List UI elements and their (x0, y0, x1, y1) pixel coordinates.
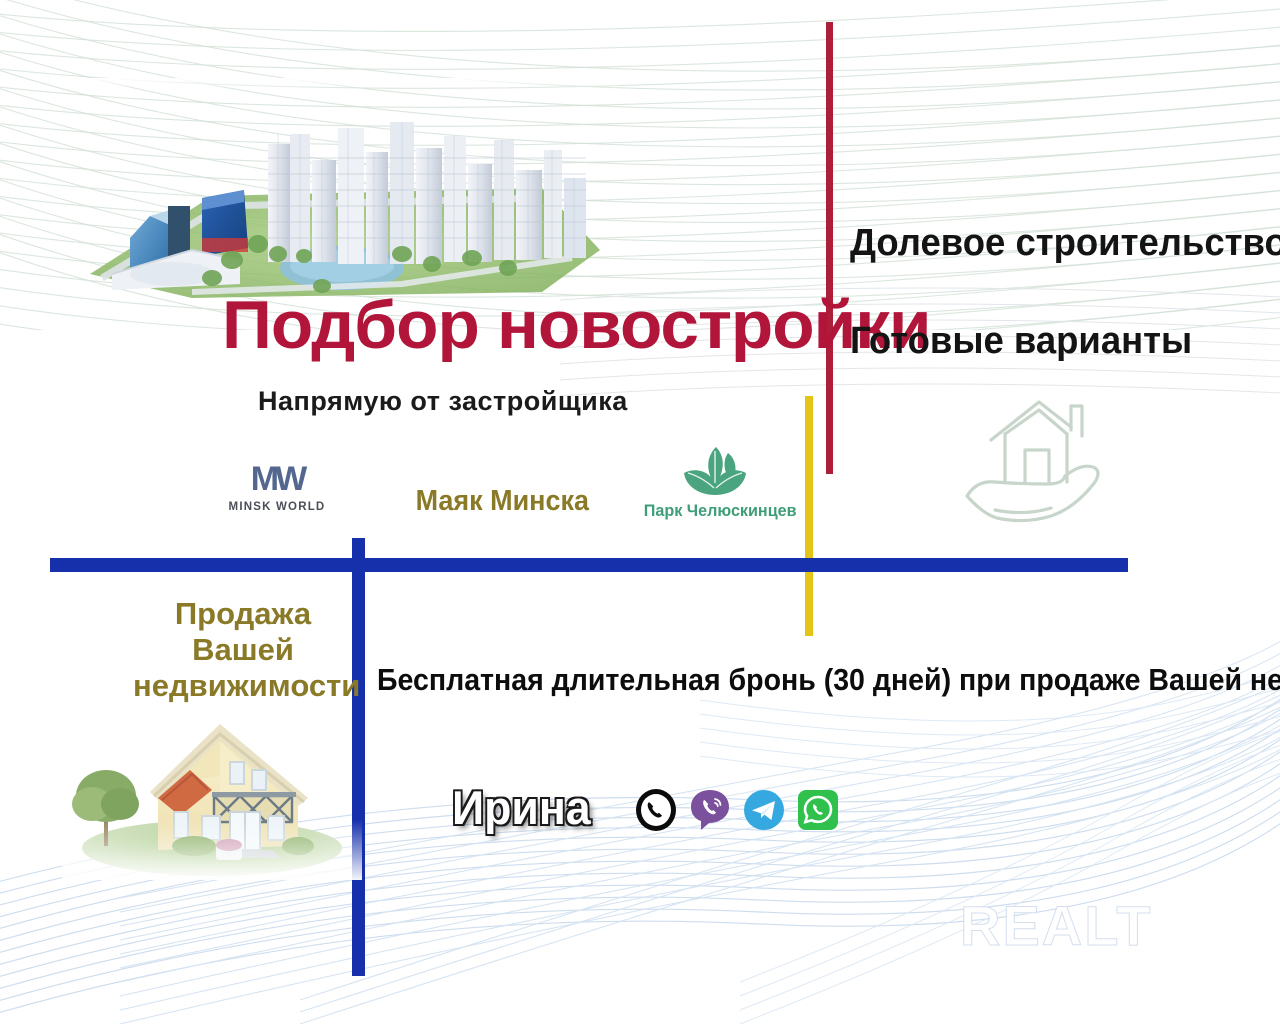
whatsapp-icon[interactable] (796, 788, 840, 832)
developer-logo-minsk-world[interactable]: MW MINSK WORLD (212, 462, 342, 513)
city-skyline-aerial-photo (72, 78, 617, 308)
contact-icons-row (634, 788, 840, 832)
booking-offer-text: Бесплатная длительная бронь (30 дней) пр… (377, 662, 1280, 698)
cottage-house-photo (62, 700, 362, 880)
divider-crimson-vertical (826, 22, 833, 474)
divider-yellow-vertical (805, 396, 813, 636)
page-subtitle: Напрямую от застройщика (258, 386, 628, 417)
developer-name-mayak-minska: Маяк Минска (416, 485, 565, 518)
realt-watermark: REALT (960, 893, 1153, 958)
viber-icon[interactable] (688, 788, 732, 832)
mw-monogram-icon: MW (212, 462, 342, 496)
developer-logo-mayak-minska[interactable]: Маяк Минска (410, 485, 570, 518)
advertisement-banner: REALT (0, 0, 1280, 1024)
park-chelyuskintsev-leaf-icon (676, 443, 754, 499)
developer-name-minsk-world: MINSK WORLD (212, 501, 342, 513)
divider-blue-horizontal (50, 558, 1128, 572)
telegram-icon[interactable] (742, 788, 786, 832)
developer-logo-park-chelyuskintsev[interactable]: Парк Челюскинцев (640, 443, 790, 521)
sell-caption-line-2: недвижимости (133, 668, 353, 704)
claim-shared-construction: Долевое строительство (850, 222, 1280, 265)
phone-icon[interactable] (634, 788, 678, 832)
house-in-hand-icon (955, 392, 1123, 532)
developer-name-park-chelyuskintsev: Парк Челюскинцев (644, 501, 787, 521)
sell-caption-line-1: Продажа Вашей (133, 596, 353, 668)
agent-name: Ирина (452, 780, 591, 835)
sell-property-caption: Продажа Вашей недвижимости (133, 596, 353, 704)
claim-ready-options: Готовые варианты (850, 320, 1192, 363)
page-title: Подбор новостройки (222, 291, 931, 359)
